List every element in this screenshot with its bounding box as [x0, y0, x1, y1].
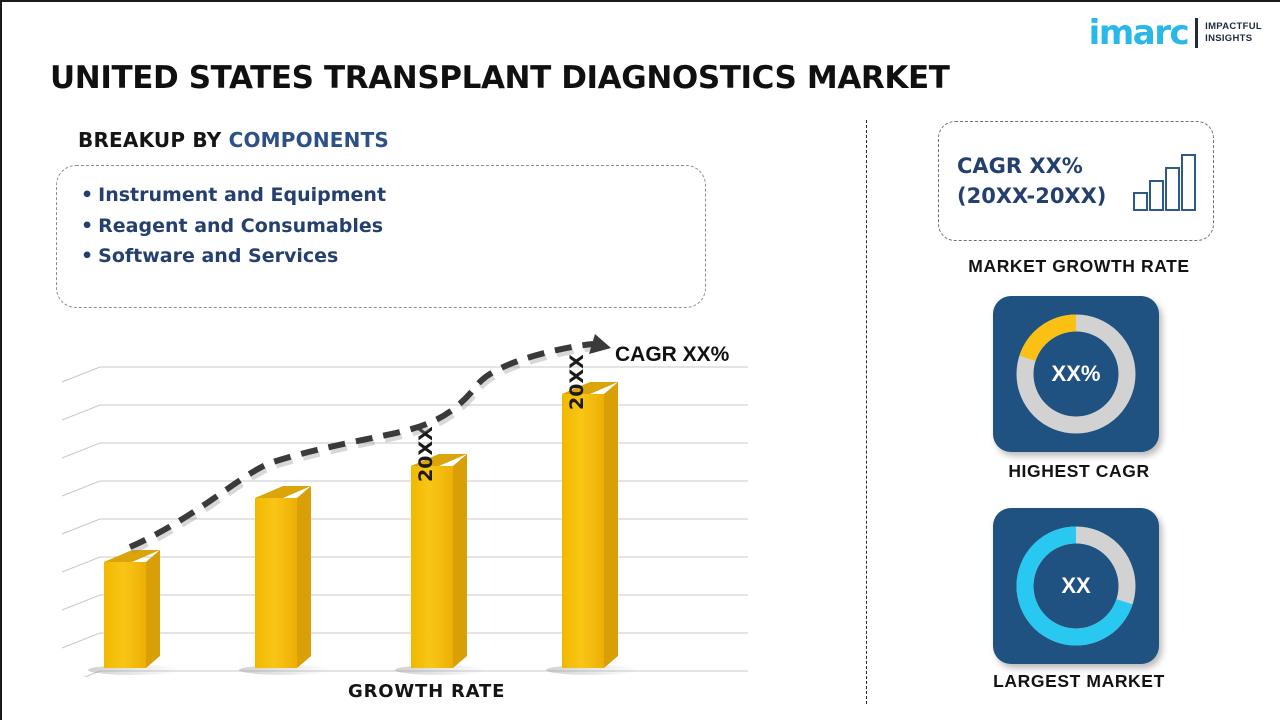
cagr-period: (20XX-20XX) [957, 181, 1133, 211]
bar-1 [104, 550, 160, 668]
list-item: •Instrument and Equipment [81, 180, 705, 211]
bar-floor-shadows [88, 665, 638, 675]
infographic-page: imarc IMPACTFUL INSIGHTS UNITED STATES T… [0, 0, 1280, 720]
bar-chart-icon [1133, 151, 1199, 211]
list-item-label: Software and Services [98, 245, 338, 267]
bullet-icon: • [81, 215, 98, 237]
bar-2 [255, 486, 311, 668]
list-item: •Software and Services [81, 241, 705, 272]
market-growth-rate-caption: MARKET GROWTH RATE [904, 256, 1254, 277]
market-growth-rate-card: CAGR XX% (20XX-20XX) [938, 121, 1214, 241]
section-divider [866, 120, 867, 704]
chart-cagr-label: CAGR XX% [615, 343, 729, 367]
logo-wordmark: imarc [1089, 16, 1188, 50]
bar-3: 20XX [411, 426, 467, 668]
cagr-card-text: CAGR XX% (20XX-20XX) [957, 151, 1133, 211]
components-list-box: •Instrument and Equipment •Reagent and C… [56, 165, 706, 308]
growth-bar-chart: 20XX 20XX [58, 332, 748, 677]
breakup-heading: BREAKUP BY COMPONENTS [78, 128, 389, 152]
highest-cagr-tile: XX% [993, 296, 1159, 452]
bar-chart-canvas: 20XX 20XX [58, 332, 748, 677]
highest-cagr-caption: HIGHEST CAGR [904, 461, 1254, 482]
highest-cagr-donut [993, 296, 1159, 452]
largest-market-donut [993, 508, 1159, 664]
bar-4: 20XX [562, 354, 618, 668]
chart-gridlines [62, 367, 748, 677]
cagr-value: CAGR XX% [957, 151, 1133, 181]
imarc-logo: imarc IMPACTFUL INSIGHTS [1089, 16, 1262, 50]
logo-divider [1195, 18, 1198, 48]
largest-market-tile: XX [993, 508, 1159, 664]
breakup-heading-category: COMPONENTS [229, 128, 389, 152]
logo-tagline-line1: IMPACTFUL [1205, 21, 1262, 33]
bullet-icon: • [81, 184, 98, 206]
trend-arrowhead [589, 334, 611, 354]
logo-tagline-line2: INSIGHTS [1205, 33, 1262, 45]
chart-x-axis-label: GROWTH RATE [348, 681, 505, 702]
bar-4-label: 20XX [566, 354, 588, 410]
breakup-heading-prefix: BREAKUP BY [78, 128, 229, 152]
list-item-label: Reagent and Consumables [98, 215, 383, 237]
list-item-label: Instrument and Equipment [98, 184, 386, 206]
list-item: •Reagent and Consumables [81, 211, 705, 242]
logo-tagline: IMPACTFUL INSIGHTS [1205, 21, 1262, 45]
bullet-icon: • [81, 245, 98, 267]
page-title: UNITED STATES TRANSPLANT DIAGNOSTICS MAR… [50, 60, 950, 96]
largest-market-caption: LARGEST MARKET [904, 671, 1254, 692]
